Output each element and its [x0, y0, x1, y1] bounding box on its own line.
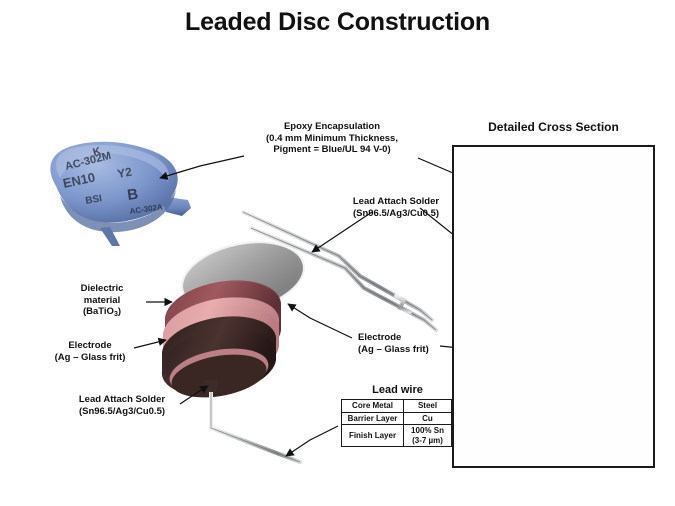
callout-electrode-left-line2: (Ag – Glass frit)	[46, 352, 134, 364]
table-row: Finish Layer 100% Sn (3-7 µm)	[342, 425, 452, 447]
callout-epoxy-line2: (0.4 mm Minimum Thickness,	[246, 133, 418, 145]
callout-electrode-center-line1: Electrode	[358, 332, 454, 344]
svg-text:AC-302A: AC-302A	[129, 202, 163, 216]
table-row: Barrier Layer Cu	[342, 412, 452, 425]
lead-wire-layer-finish: Finish Layer	[342, 425, 404, 447]
lead-wire-table-title: Lead wire	[341, 384, 454, 396]
svg-text:AC-302M: AC-302M	[64, 150, 113, 173]
svg-text:K: K	[92, 145, 103, 159]
callout-electrode-center: Electrode (Ag – Glass frit)	[358, 332, 454, 355]
callout-epoxy-encapsulation: Epoxy Encapsulation (0.4 mm Minimum Thic…	[246, 121, 418, 156]
table-row: Core Metal Steel	[342, 400, 452, 413]
callout-lead-solder-top-line2: (Sn96.5/Ag3/Cu0.5)	[330, 208, 462, 220]
callout-lead-solder-top-line1: Lead Attach Solder	[330, 196, 462, 208]
finished-capacitor-illustration: AC-302M EN10 Y2 BSI B K AC-302A	[50, 142, 191, 246]
callout-electrode-left: Electrode (Ag – Glass frit)	[46, 340, 134, 363]
callout-dielectric-left-line3: (BaTiO3)	[60, 306, 144, 319]
page-title: Leaded Disc Construction	[0, 8, 675, 37]
lead-wire-material-finish: 100% Sn (3-7 µm)	[404, 425, 452, 447]
lead-wire-table: Core Metal Steel Barrier Layer Cu Finish…	[341, 399, 452, 447]
callout-lead-attach-solder-bottom: Lead Attach Solder (Sn96.5/Ag3/Cu0.5)	[64, 394, 180, 417]
callout-epoxy-line1: Epoxy Encapsulation	[246, 121, 418, 133]
callout-epoxy-line3: Pigment = Blue/UL 94 V-0)	[246, 144, 418, 156]
callout-lead-solder-bottom-line1: Lead Attach Solder	[64, 394, 180, 406]
slide-canvas: Leaded Disc Construction	[0, 0, 675, 506]
cross-section-panel	[452, 145, 655, 468]
lead-wire-material-finish-line1: 100% Sn	[411, 426, 444, 435]
lead-wire-material-core: Steel	[404, 400, 452, 413]
cross-section-title: Detailed Cross Section	[452, 120, 655, 134]
callout-lead-solder-bottom-line2: (Sn96.5/Ag3/Cu0.5)	[64, 406, 180, 418]
svg-text:EN10: EN10	[62, 169, 97, 190]
lead-wire-layer-core: Core Metal	[342, 400, 404, 413]
lead-wire-material-barrier: Cu	[404, 412, 452, 425]
lead-wire-layer-barrier: Barrier Layer	[342, 412, 404, 425]
callout-dielectric-left-line1: Dielectric	[60, 283, 144, 295]
svg-text:BSI: BSI	[85, 193, 104, 207]
svg-text:Y2: Y2	[116, 165, 133, 181]
exploded-disc-stack	[159, 232, 311, 404]
callout-dielectric-material-left: Dielectric material (BaTiO3)	[60, 283, 144, 319]
lead-wire-material-finish-line2: (3-7 µm)	[412, 436, 443, 445]
callout-electrode-left-line1: Electrode	[46, 340, 134, 352]
svg-text:B: B	[126, 186, 139, 204]
callout-lead-attach-solder-top: Lead Attach Solder (Sn96.5/Ag3/Cu0.5)	[330, 196, 462, 219]
callout-dielectric-left-line2: material	[60, 295, 144, 307]
callout-electrode-center-line2: (Ag – Glass frit)	[358, 344, 454, 356]
